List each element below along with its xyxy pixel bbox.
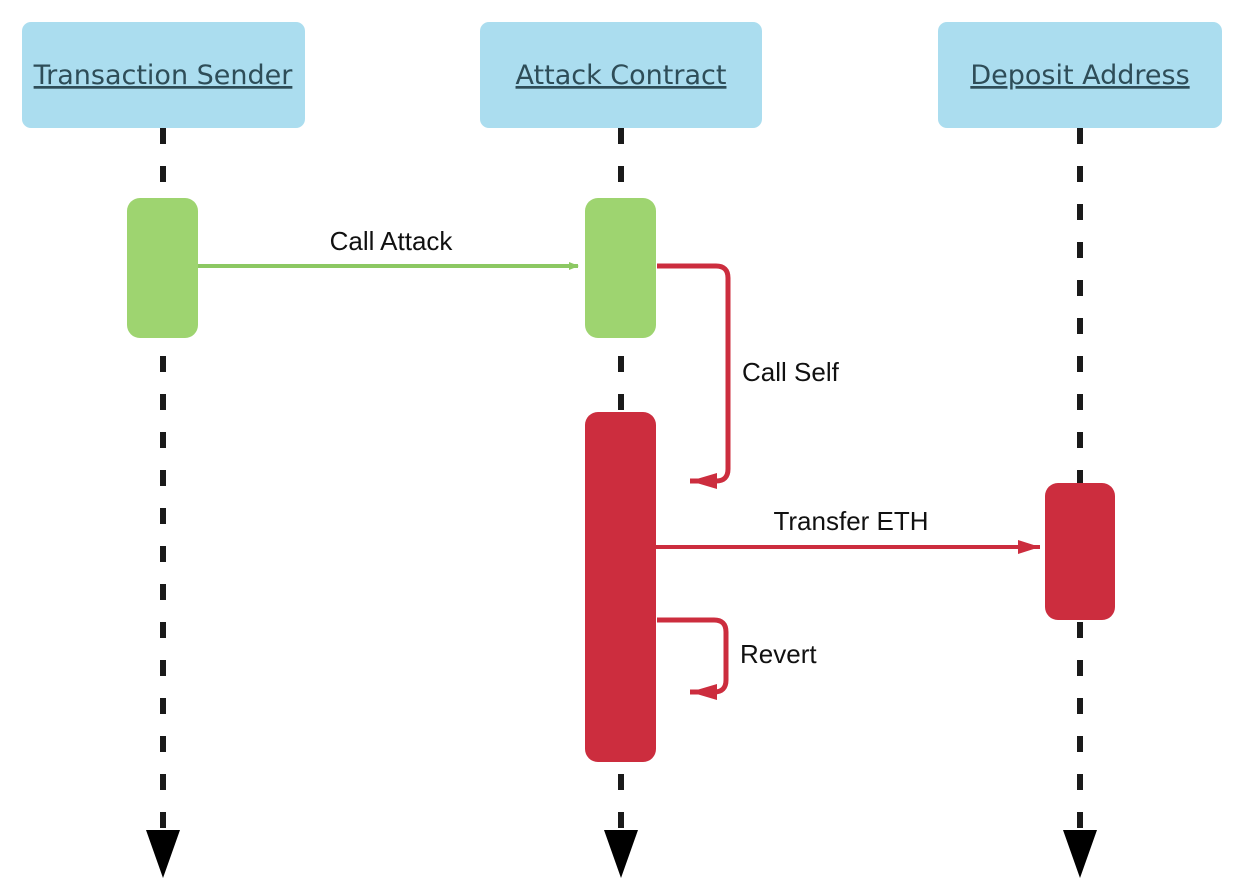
participants-group: Transaction Sender Attack Contract Depos… xyxy=(22,22,1222,128)
participant-attack-contract[interactable]: Attack Contract xyxy=(480,22,762,128)
participant-transaction-sender[interactable]: Transaction Sender xyxy=(22,22,305,128)
lifeline-terminator-attack-icon xyxy=(604,830,638,878)
activation-bars-group xyxy=(127,198,1115,762)
message-label-call-self: Call Self xyxy=(742,357,840,387)
sequence-diagram-canvas: Transaction Sender Attack Contract Depos… xyxy=(0,0,1244,895)
lifeline-terminator-sender-icon xyxy=(146,830,180,878)
activation-bar-attack-call[interactable] xyxy=(585,198,656,338)
message-label-transfer-eth: Transfer ETH xyxy=(773,506,928,536)
activation-bar-attack-revert[interactable] xyxy=(585,412,656,762)
message-arrow-revert[interactable] xyxy=(657,620,726,692)
participant-deposit-address[interactable]: Deposit Address xyxy=(938,22,1222,128)
sequence-diagram-svg: Transaction Sender Attack Contract Depos… xyxy=(0,0,1244,895)
participant-label-deposit-address: Deposit Address xyxy=(970,60,1189,91)
participant-label-transaction-sender: Transaction Sender xyxy=(33,60,294,91)
lifeline-terminator-deposit-icon xyxy=(1063,830,1097,878)
activation-bar-sender[interactable] xyxy=(127,198,198,338)
participant-label-attack-contract: Attack Contract xyxy=(516,60,727,91)
message-label-call-attack: Call Attack xyxy=(330,226,454,256)
message-label-revert: Revert xyxy=(740,639,817,669)
activation-bar-deposit[interactable] xyxy=(1045,483,1115,620)
message-arrow-call-self[interactable] xyxy=(657,266,728,481)
